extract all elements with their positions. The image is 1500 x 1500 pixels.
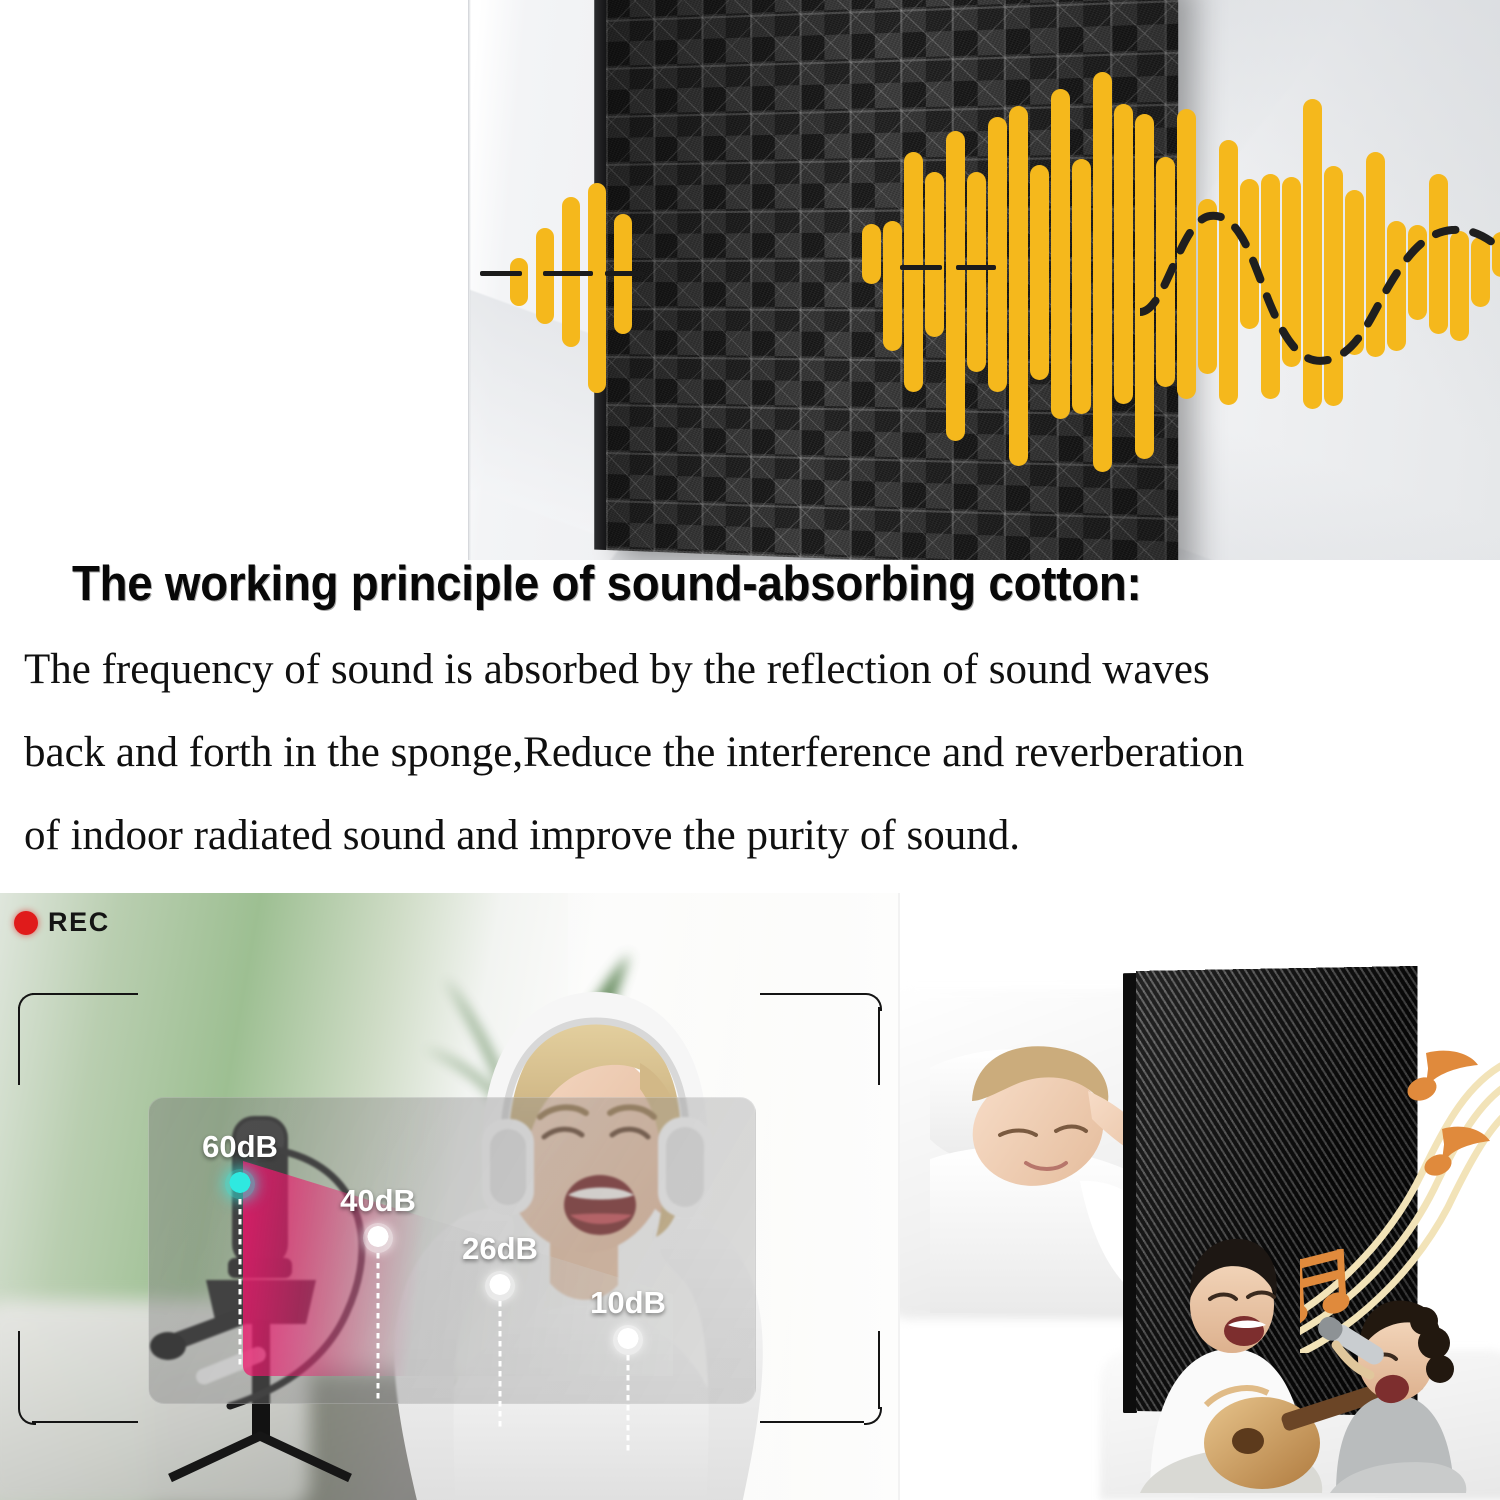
waveform-midline-dash xyxy=(605,271,643,276)
db-marker-label: 10dB xyxy=(590,1285,666,1321)
db-marker-dot xyxy=(613,1325,643,1355)
rec-label: REC xyxy=(48,907,110,938)
waveform-bar xyxy=(904,152,923,392)
db-marker-label: 60dB xyxy=(202,1129,278,1165)
noise-demo-photo: 60dB40dB26dB10dB REC xyxy=(0,893,898,1500)
waveform-bar xyxy=(588,183,606,393)
product-infographic: The working principle of sound-absorbing… xyxy=(0,0,1500,1500)
viewfinder-corner-top-right xyxy=(760,993,880,1085)
db-marker-stem xyxy=(499,1301,502,1427)
db-marker-label: 40dB xyxy=(340,1183,416,1219)
waveform-midline-dash xyxy=(956,265,996,270)
db-marker-dot xyxy=(363,1223,393,1253)
db-marker-label: 26dB xyxy=(462,1231,538,1267)
waveform-bar xyxy=(1072,159,1091,414)
body-text-line-1: The frequency of sound is absorbed by th… xyxy=(24,645,1484,694)
waveform-bar xyxy=(925,172,944,337)
waveform-bar xyxy=(1114,104,1133,404)
db-marker-stem xyxy=(377,1253,380,1403)
waveform-bar xyxy=(967,172,986,372)
viewfinder-corner-bottom-left xyxy=(18,1331,138,1423)
db-marker-dot xyxy=(225,1169,255,1199)
waveform-bar xyxy=(1009,106,1028,466)
waveform-bar xyxy=(536,228,554,324)
viewfinder-corner-top-left xyxy=(18,993,138,1085)
egg-panel-side-edge xyxy=(1123,973,1137,1413)
db-marker-stem xyxy=(627,1355,630,1455)
waveform-bar xyxy=(988,117,1007,392)
waveform-midline-dash xyxy=(900,265,942,270)
db-marker-dot xyxy=(485,1271,515,1301)
hero-white-left-panel xyxy=(0,0,470,560)
waveform-bar xyxy=(862,224,881,284)
dashed-sine-wave xyxy=(1140,100,1500,390)
waveform-bar xyxy=(883,221,902,351)
musicians-photo xyxy=(1140,1193,1470,1493)
waveform-bar xyxy=(946,131,965,441)
viewfinder-corner-bottom-right xyxy=(760,1331,880,1423)
waveform-midline-dash xyxy=(480,271,522,276)
hero-edge-line xyxy=(468,0,471,560)
hero-illustration xyxy=(0,0,1500,560)
waveform-bar xyxy=(1051,89,1070,419)
page-headline: The working principle of sound-absorbing… xyxy=(72,556,1337,612)
body-text-line-2: back and forth in the sponge,Reduce the … xyxy=(24,728,1484,777)
waveform-bar xyxy=(1030,165,1049,380)
bedroom-demo-photo xyxy=(900,893,1500,1500)
rec-dot-icon xyxy=(14,911,38,935)
waveform-midline-dash xyxy=(543,271,593,276)
waveform-bar xyxy=(1093,72,1112,472)
body-text-line-3: of indoor radiated sound and improve the… xyxy=(24,811,1484,860)
waveform-bar xyxy=(510,258,528,306)
db-marker-stem xyxy=(239,1199,242,1369)
